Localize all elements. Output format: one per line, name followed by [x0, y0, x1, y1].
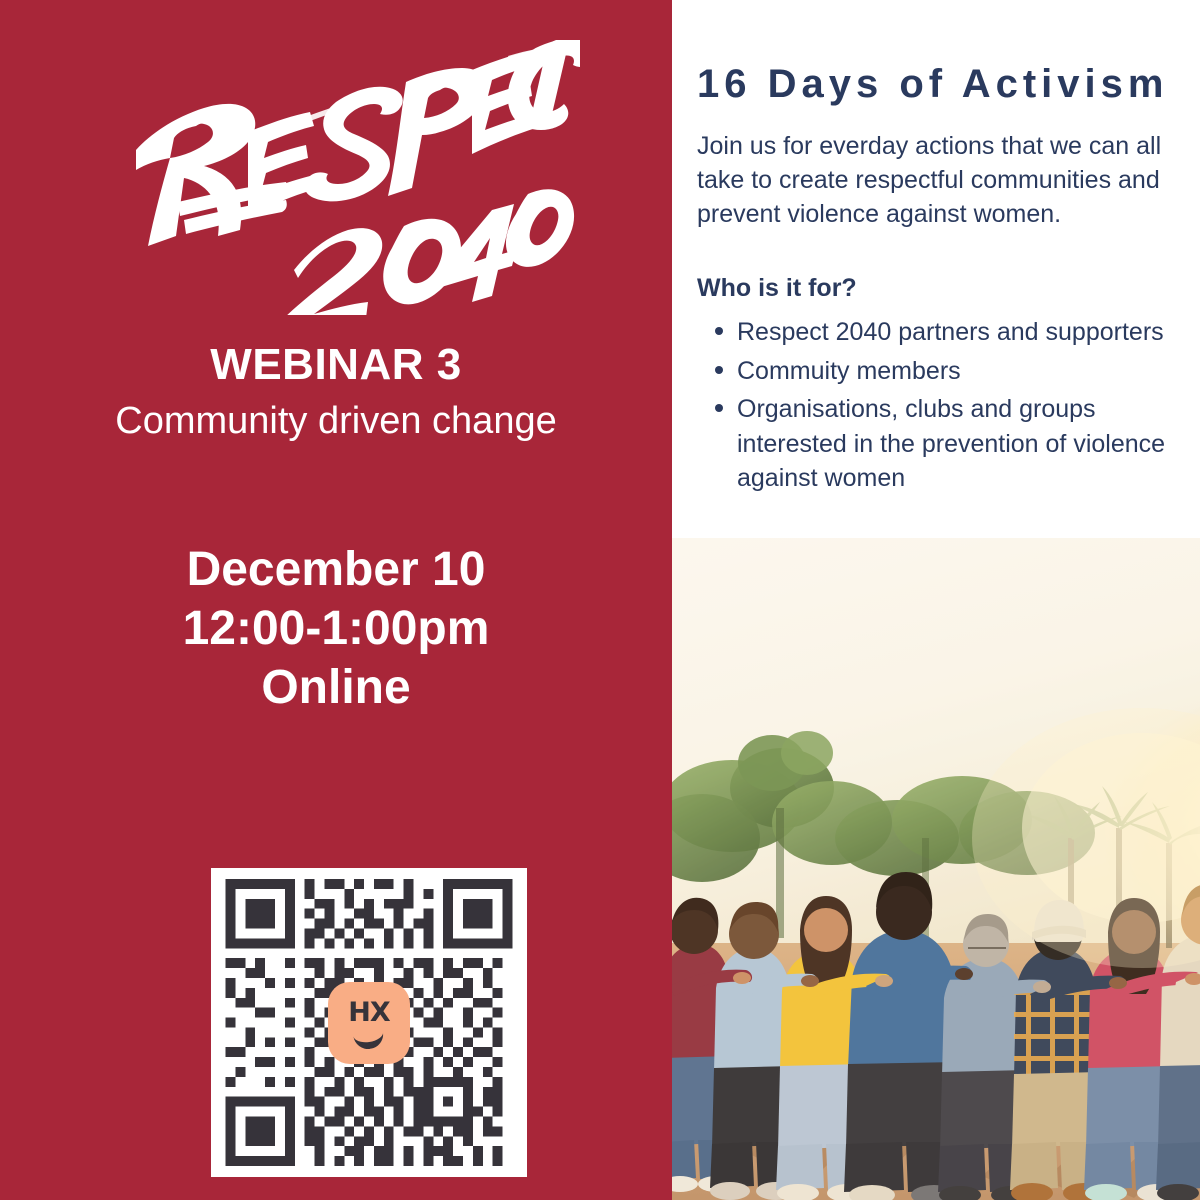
- event-location: Online: [0, 658, 672, 717]
- list-item: Respect 2040 partners and supporters: [737, 315, 1174, 350]
- list-item-label: Commuity members: [737, 357, 961, 385]
- humanitix-badge-text: HX: [348, 999, 389, 1026]
- smile-icon: [353, 1029, 385, 1051]
- webinar-title: WEBINAR 3: [0, 340, 672, 389]
- bullet-icon: [715, 366, 723, 374]
- poster: RESPECT 2040: [0, 0, 1200, 1200]
- audience-list: Respect 2040 partners and supporters Com…: [697, 315, 1174, 496]
- list-item-label: Organisations, clubs and groups interest…: [737, 395, 1165, 492]
- right-white-panel: 16 Days of Activism Join us for everday …: [672, 0, 1200, 1200]
- event-date: December 10: [0, 540, 672, 599]
- qr-code[interactable]: HX: [211, 868, 527, 1177]
- event-details-block: December 10 12:00-1:00pm Online: [0, 540, 672, 717]
- list-item-label: Respect 2040 partners and supporters: [737, 318, 1164, 346]
- who-is-it-for-heading: Who is it for?: [697, 273, 1174, 303]
- activism-heading: 16 Days of Activism: [697, 62, 1174, 106]
- list-item: Organisations, clubs and groups interest…: [737, 392, 1174, 496]
- left-red-panel: RESPECT 2040: [0, 0, 672, 1200]
- respect-2040-logo: RESPECT 2040: [100, 40, 580, 315]
- right-text-block: 16 Days of Activism Join us for everday …: [672, 0, 1200, 496]
- community-photo: [672, 538, 1200, 1200]
- bullet-icon: [715, 404, 723, 412]
- humanitix-badge-icon: HX: [328, 982, 410, 1064]
- event-time: 12:00-1:00pm: [0, 599, 672, 658]
- webinar-subtitle: Community driven change: [0, 399, 672, 445]
- list-item: Commuity members: [737, 354, 1174, 389]
- intro-paragraph: Join us for everday actions that we can …: [697, 130, 1174, 231]
- bullet-icon: [715, 327, 723, 335]
- webinar-block: WEBINAR 3 Community driven change: [0, 340, 672, 445]
